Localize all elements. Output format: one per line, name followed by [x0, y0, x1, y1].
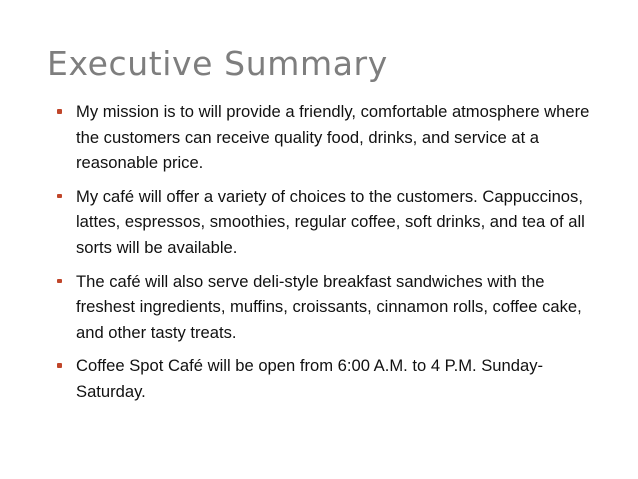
list-item-text: Coffee Spot Café will be open from 6:00 … [76, 353, 604, 404]
square-bullet-icon [57, 194, 62, 199]
list-item: The café will also serve deli-style brea… [56, 269, 604, 346]
square-bullet-icon [57, 279, 62, 284]
list-item: My café will offer a variety of choices … [56, 184, 604, 261]
list-item: My mission is to will provide a friendly… [56, 99, 604, 176]
list-item-text: My café will offer a variety of choices … [76, 184, 604, 261]
bullet-list: My mission is to will provide a friendly… [56, 99, 604, 405]
list-item: Coffee Spot Café will be open from 6:00 … [56, 353, 604, 404]
page-title: Executive Summary [47, 44, 388, 84]
square-bullet-icon [57, 109, 62, 114]
slide-canvas: Executive Summary My mission is to will … [0, 0, 638, 479]
square-bullet-icon [57, 363, 62, 368]
list-item-text: The café will also serve deli-style brea… [76, 269, 604, 346]
list-item-text: My mission is to will provide a friendly… [76, 99, 604, 176]
